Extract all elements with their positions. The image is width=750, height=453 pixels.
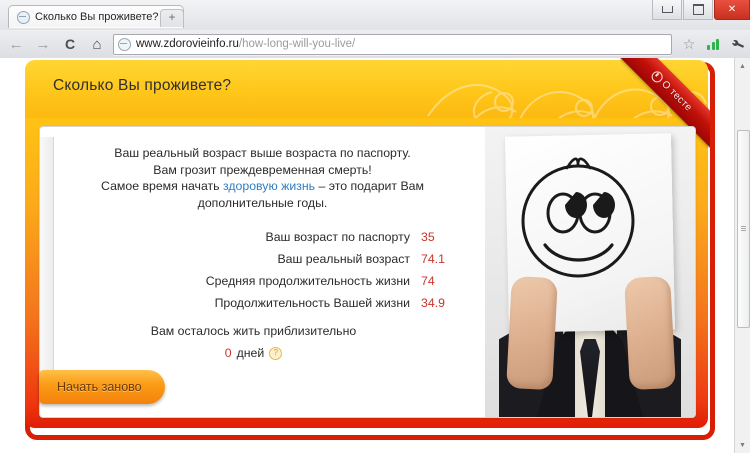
wrench-glyph	[728, 35, 746, 53]
page-viewport: Сколько Вы проживете? О тесте Ваш реальн…	[0, 58, 750, 453]
result-intro: Ваш реальный возраст выше возраста по па…	[40, 145, 485, 211]
stat-value: 74	[410, 274, 467, 288]
question-mark-icon[interactable]: ?	[269, 347, 282, 360]
quiz-header: Сколько Вы проживете?	[25, 60, 708, 118]
minimize-icon	[662, 6, 673, 13]
stat-row: Продолжительность Вашей жизни 34.9	[40, 296, 467, 310]
vertical-scrollbar[interactable]: ▲ ▼	[734, 58, 750, 453]
stat-value: 35	[410, 230, 467, 244]
close-window-button[interactable]: ✕	[714, 0, 750, 20]
browser-tab[interactable]: Сколько Вы проживете? ✕	[8, 5, 184, 28]
tab-favicon-icon	[17, 11, 30, 24]
window-controls: ✕	[651, 0, 750, 19]
intro-line-4: дополнительные годы.	[54, 195, 471, 212]
forward-icon[interactable]: →	[32, 33, 54, 55]
floral-ornament-icon	[408, 60, 708, 118]
healthy-life-link[interactable]: здоровую жизнь	[223, 179, 315, 193]
result-photo	[485, 127, 695, 417]
restart-button-label: Начать заново	[39, 380, 142, 394]
tab-title: Сколько Вы проживете?	[35, 11, 159, 23]
remaining-label: Вам осталось жить приблизительно	[40, 324, 485, 338]
stat-label: Ваш возраст по паспорту	[266, 230, 410, 244]
signal-bars-glyph	[707, 38, 719, 50]
intro-line-2: Вам грозит преждевременная смерть!	[54, 162, 471, 179]
intro-line-3: Самое время начать здоровую жизнь – это …	[54, 178, 471, 195]
maximize-button[interactable]	[683, 0, 713, 20]
remaining-days-number: 0	[225, 346, 232, 360]
stats-table: Ваш возраст по паспорту 35 Ваш реальный …	[40, 230, 485, 310]
stat-value: 34.9	[410, 296, 467, 310]
scrollbar-grip-icon	[741, 226, 746, 232]
minimize-button[interactable]	[652, 0, 682, 20]
stat-row: Ваш реальный возраст 74.1	[40, 252, 467, 266]
stat-row: Средняя продолжительность жизни 74	[40, 274, 467, 288]
stat-label: Ваш реальный возраст	[277, 252, 410, 266]
home-icon[interactable]: ⌂	[86, 33, 108, 55]
scrollbar-thumb[interactable]	[737, 130, 750, 328]
restart-button[interactable]: Начать заново	[39, 370, 165, 404]
wrench-menu-icon[interactable]	[726, 33, 748, 55]
sad-face-drawing-icon	[515, 141, 641, 291]
scroll-down-arrow-icon[interactable]: ▼	[735, 437, 750, 453]
intro-line-1: Ваш реальный возраст выше возраста по па…	[54, 145, 471, 162]
bookmark-star-icon[interactable]: ☆	[678, 33, 700, 55]
right-hand	[624, 276, 676, 390]
stat-value: 74.1	[410, 252, 467, 266]
back-icon[interactable]: ←	[5, 33, 27, 55]
stat-label: Продолжительность Вашей жизни	[215, 296, 410, 310]
remaining-days-unit: дней	[237, 346, 265, 360]
page-favicon-icon	[118, 38, 131, 51]
url-host: www.zdorovieinfo.ru	[136, 38, 239, 50]
signal-bars-icon[interactable]	[702, 33, 724, 55]
quiz-panel: Сколько Вы проживете? О тесте Ваш реальн…	[25, 60, 708, 428]
url-path: /how-long-will-you-live/	[239, 38, 355, 50]
tab-strip: Сколько Вы проживете? ✕	[8, 5, 184, 30]
remaining-value-row: 0 дней ?	[40, 346, 485, 360]
stat-row: Ваш возраст по паспорту 35	[40, 230, 467, 244]
left-hand	[506, 276, 558, 390]
intro-line-3-after: – это подарит Вам	[315, 179, 424, 193]
star-glyph: ☆	[683, 36, 696, 53]
reload-icon[interactable]: C	[59, 33, 81, 55]
browser-toolbar: ← → C ⌂ www.zdorovieinfo.ru/how-long-wil…	[0, 30, 750, 59]
scroll-up-arrow-icon[interactable]: ▲	[735, 58, 750, 74]
page-title: Сколько Вы проживете?	[53, 77, 231, 95]
address-bar[interactable]: www.zdorovieinfo.ru/how-long-will-you-li…	[113, 34, 672, 55]
url-text: www.zdorovieinfo.ru/how-long-will-you-li…	[136, 38, 355, 50]
right-pupil	[593, 192, 615, 218]
stat-label: Средняя продолжительность жизни	[206, 274, 410, 288]
new-tab-button[interactable]: +	[160, 9, 184, 27]
intro-line-3-before: Самое время начать	[101, 179, 223, 193]
maximize-icon	[693, 4, 704, 15]
browser-window: Сколько Вы проживете? ✕ + ✕ ← → C ⌂ www.…	[0, 0, 750, 453]
title-bar: Сколько Вы проживете? ✕ + ✕	[0, 0, 750, 30]
page-background: Сколько Вы проживете? О тесте Ваш реальн…	[0, 58, 735, 453]
